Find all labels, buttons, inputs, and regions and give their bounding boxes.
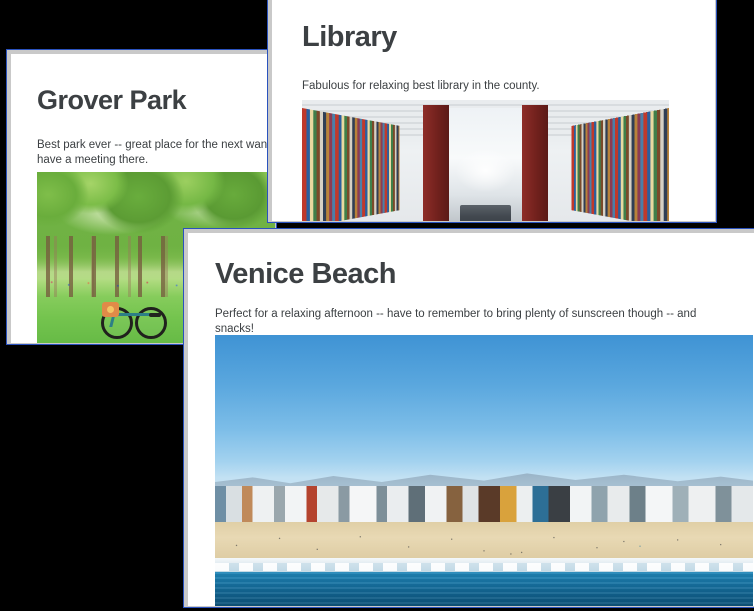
bicycle-seat — [149, 313, 161, 317]
card-venice-beach[interactable]: Venice Beach Perfect for a relaxing afte… — [183, 228, 754, 608]
card-library-title[interactable]: Library — [302, 21, 397, 54]
card-grover-park-title[interactable]: Grover Park — [37, 85, 186, 116]
bicycle-basket — [102, 302, 119, 317]
library-books-right — [572, 108, 669, 221]
beach-photo[interactable] — [215, 335, 753, 606]
library-photo[interactable] — [302, 100, 669, 221]
card-library-frame: Library Fabulous for relaxing best libra… — [268, 0, 716, 222]
slide-canvas: Grover Park Best park ever -- great plac… — [0, 0, 754, 611]
beach-visitors — [215, 522, 753, 561]
beach-ocean — [215, 572, 753, 607]
card-venice-beach-description[interactable]: Perfect for a relaxing afternoon -- have… — [215, 307, 730, 336]
card-grover-park-description[interactable]: Best park ever -- great place for the ne… — [37, 138, 275, 167]
library-window-glare — [456, 149, 515, 193]
card-library[interactable]: Library Fabulous for relaxing best libra… — [267, 0, 717, 223]
library-study-table — [460, 205, 511, 221]
card-library-description[interactable]: Fabulous for relaxing best library in th… — [302, 79, 702, 94]
card-venice-beach-title[interactable]: Venice Beach — [215, 258, 396, 291]
library-shelf-endcap-right — [522, 105, 548, 221]
card-library-body: Library Fabulous for relaxing best libra… — [272, 0, 715, 221]
card-venice-beach-body: Venice Beach Perfect for a relaxing afte… — [188, 233, 754, 606]
library-books-left — [302, 108, 399, 221]
card-venice-beach-frame: Venice Beach Perfect for a relaxing afte… — [184, 229, 754, 607]
beach-sand — [215, 522, 753, 561]
bicycle-icon — [101, 299, 167, 339]
library-shelf-endcap-left — [423, 105, 449, 221]
